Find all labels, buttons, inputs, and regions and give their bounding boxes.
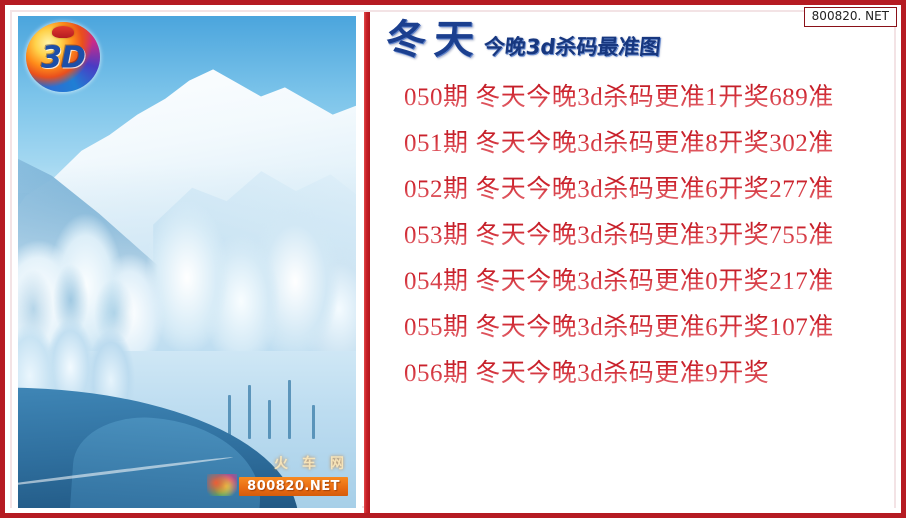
list-item: 056期 冬天今晚3d杀码更准9开奖 [370,348,894,394]
text-panel: 冬天 今晚3d杀码最准图 050期 冬天今晚3d杀码更准1开奖689准 051期… [370,12,894,514]
flower-decoration-icon [207,474,237,496]
fence-post [268,400,271,439]
forecast-row-list: 050期 冬天今晚3d杀码更准1开奖689准 051期 冬天今晚3d杀码更准8开… [370,68,894,394]
watermark-char-1: 火 [274,453,288,473]
list-item: 053期 冬天今晚3d杀码更准3开奖755准 [370,210,894,256]
fence-post [248,385,251,439]
row-055-text: 055期 冬天今晚3d杀码更准6开奖107准 [404,307,834,343]
row-054-text: 054期 冬天今晚3d杀码更准0开奖217准 [404,261,834,297]
inner-frame: 火 车 网 800820.NET 冬天 今晚3d杀码最准图 [10,10,896,508]
row-051-text: 051期 冬天今晚3d杀码更准8开奖302准 [404,123,834,159]
title-sub-text: 今晚3d杀码最准图 [482,31,662,61]
watermark-url-row: 800820.NET [207,474,348,496]
poster-root: 火 车 网 800820.NET 冬天 今晚3d杀码最准图 [0,0,906,518]
photo-panel: 火 车 网 800820.NET [12,12,362,514]
watermark-char-2: 车 [302,453,316,473]
watermark-url-text: 800820.NET [239,477,348,496]
watermark-char-3: 网 [330,453,344,473]
logo-cap-shape [52,26,74,38]
row-053-text: 053期 冬天今晚3d杀码更准3开奖755准 [404,215,834,251]
lottery-3d-logo-icon [26,22,100,92]
site-url-badge: 800820. NET [804,7,897,27]
list-item: 055期 冬天今晚3d杀码更准6开奖107准 [370,302,894,348]
row-052-text: 052期 冬天今晚3d杀码更准6开奖277准 [404,169,834,205]
winter-mountain-photo: 火 车 网 800820.NET [18,16,356,508]
fence-post [288,380,291,439]
list-item: 054期 冬天今晚3d杀码更准0开奖217准 [370,256,894,302]
list-item: 051期 冬天今晚3d杀码更准8开奖302准 [370,118,894,164]
list-item: 050期 冬天今晚3d杀码更准1开奖689准 [370,72,894,118]
row-050-text: 050期 冬天今晚3d杀码更准1开奖689准 [404,77,834,113]
watermark-chinese-text: 火 车 网 [274,453,348,473]
title-main-text: 冬天 [385,20,484,60]
photo-watermark: 火 车 网 800820.NET [207,453,348,496]
list-item: 052期 冬天今晚3d杀码更准6开奖277准 [370,164,894,210]
row-056-text: 056期 冬天今晚3d杀码更准9开奖 [404,353,769,389]
fence-post [312,405,315,439]
